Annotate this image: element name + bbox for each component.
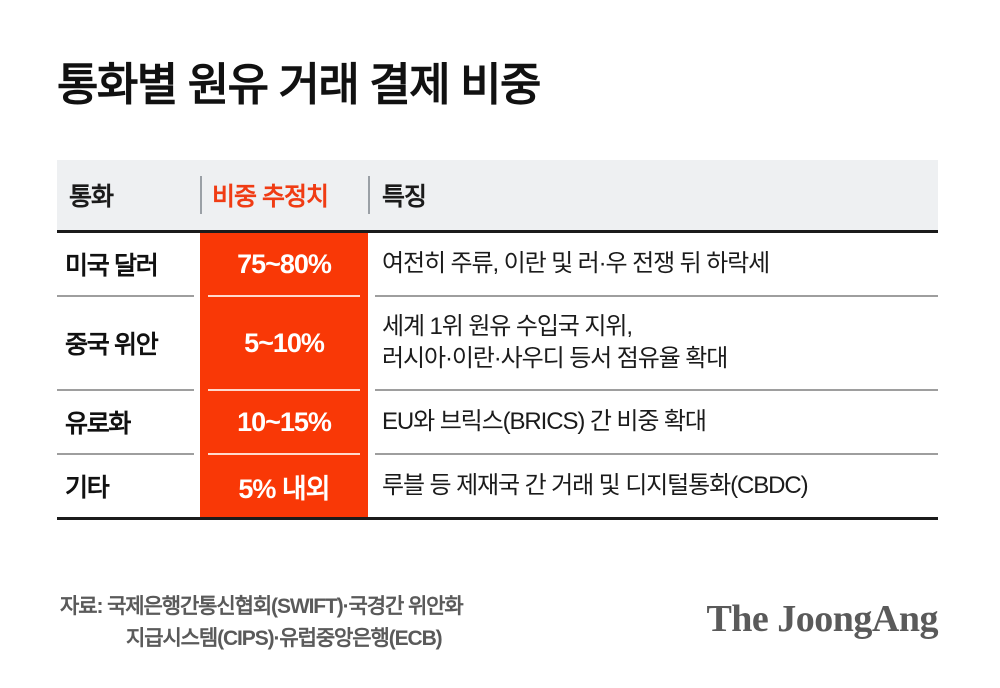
row-separator xyxy=(57,295,938,297)
row-feature-text: EU와 브릭스(BRICS) 간 비중 확대 xyxy=(382,406,706,438)
source-line-1: 자료: 국제은행간통신협회(SWIFT)·국경간 위안화 xyxy=(60,595,463,618)
row-currency-label: 기타 xyxy=(65,468,200,504)
row-feature-text: 세계 1위 원유 수입국 지위, 러시아·이란·사우디 등서 점유율 확대 xyxy=(382,311,727,374)
row-currency-label: 유로화 xyxy=(65,404,200,440)
page-title: 통화별 원유 거래 결제 비중 xyxy=(57,48,540,113)
table-bottom-border xyxy=(57,517,938,520)
currency-share-table: 통화 비중 추정치 특징 미국 달러 75~80% 여전히 주류, 이란 및 러… xyxy=(57,160,938,520)
row-currency-label: 미국 달러 xyxy=(65,246,200,282)
row-currency-label: 중국 위안 xyxy=(65,325,200,361)
publisher-logo: The JoongAng xyxy=(706,597,938,641)
column-header-feature: 특징 xyxy=(382,160,426,230)
table-row: 기타 5% 내외 루블 등 제재국 간 거래 및 디지털통화(CBDC) xyxy=(57,455,938,517)
row-share-value: 5~10% xyxy=(200,328,368,359)
header-divider-left xyxy=(200,176,202,214)
source-line-2: 지급시스템(CIPS)·유럽중앙은행(ECB) xyxy=(60,623,660,656)
table-header-row: 통화 비중 추정치 특징 xyxy=(57,160,938,233)
table-row: 미국 달러 75~80% 여전히 주류, 이란 및 러·우 전쟁 뒤 하락세 xyxy=(57,233,938,295)
row-share-value: 75~80% xyxy=(200,249,368,280)
row-separator xyxy=(57,389,938,391)
row-feature-text: 여전히 주류, 이란 및 러·우 전쟁 뒤 하락세 xyxy=(382,248,769,280)
header-divider-right xyxy=(368,176,370,214)
table-row: 중국 위안 5~10% 세계 1위 원유 수입국 지위, 러시아·이란·사우디 … xyxy=(57,297,938,389)
row-feature-text: 루블 등 제재국 간 거래 및 디지털통화(CBDC) xyxy=(382,470,808,502)
row-share-value: 10~15% xyxy=(200,407,368,438)
table-body: 미국 달러 75~80% 여전히 주류, 이란 및 러·우 전쟁 뒤 하락세 중… xyxy=(57,233,938,517)
row-share-value: 5% 내외 xyxy=(200,467,368,506)
column-header-currency: 통화 xyxy=(69,160,113,230)
column-header-share: 비중 추정치 xyxy=(212,160,328,230)
row-separator xyxy=(57,453,938,455)
table-row: 유로화 10~15% EU와 브릭스(BRICS) 간 비중 확대 xyxy=(57,391,938,453)
source-note: 자료: 국제은행간통신협회(SWIFT)·국경간 위안화 지급시스템(CIPS)… xyxy=(60,558,660,688)
